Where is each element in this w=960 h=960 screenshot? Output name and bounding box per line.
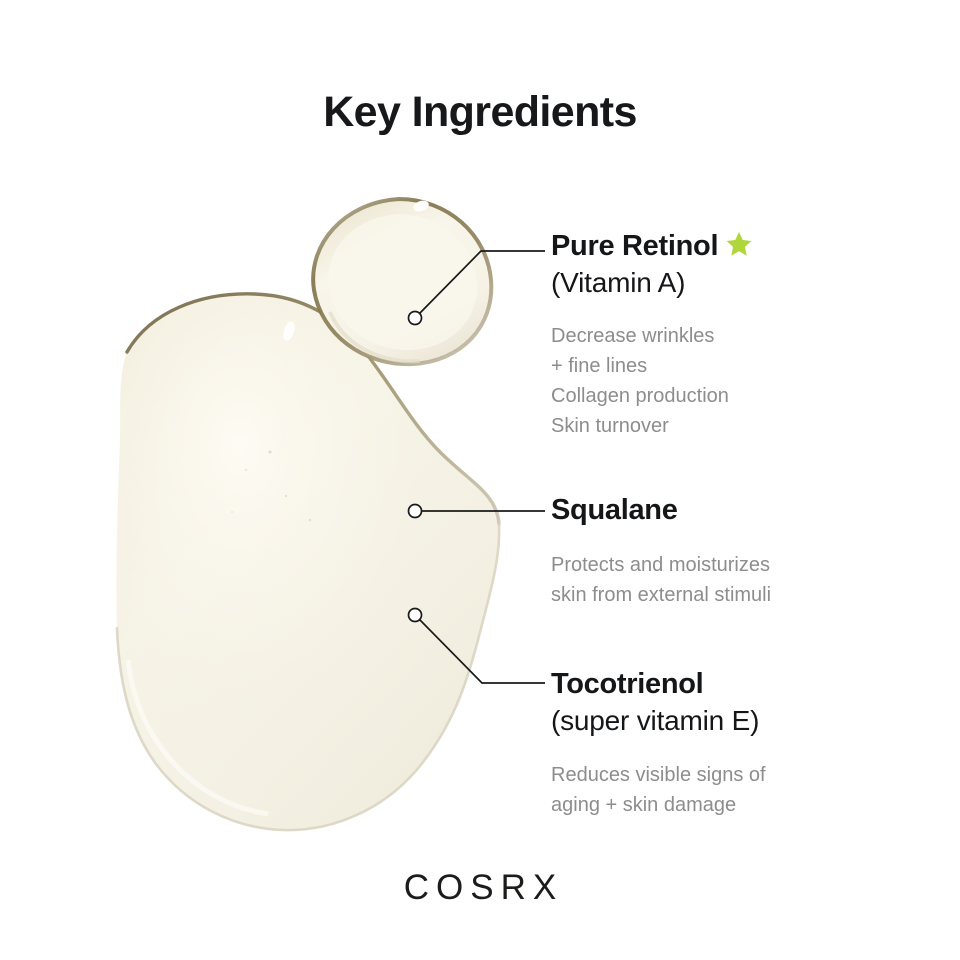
star-icon [725,230,753,258]
ingredient-name-tocotrienol: Tocotrienol [551,666,881,702]
ingredient-name-retinol: Pure Retinol [551,228,881,264]
description-line: skin from external stimuli [551,580,881,610]
leader-line-retinol [409,251,546,325]
ingredient-description-retinol: Decrease wrinkles + fine lines Collagen … [551,321,881,441]
description-line: + fine lines [551,351,881,381]
ingredient-name-retinol-label: Pure Retinol [551,230,718,262]
description-line: aging + skin damage [551,790,881,820]
ingredient-description-tocotrienol: Reduces visible signs of aging + skin da… [551,760,881,820]
description-line: Reduces visible signs of [551,760,881,790]
ingredient-subtitle-tocotrienol: (super vitamin E) [551,702,881,739]
ingredient-block-squalane: Squalane Protects and moisturizes skin f… [551,492,881,610]
infographic-canvas: Key Ingredients [0,0,960,960]
leader-line-squalane [409,505,546,518]
ingredient-subtitle-retinol: (Vitamin A) [551,264,881,301]
description-line: Protects and moisturizes [551,550,881,580]
description-line: Decrease wrinkles [551,321,881,351]
ingredient-name-squalane: Squalane [551,492,881,528]
leader-line-tocotrienol [409,609,546,684]
description-line: Skin turnover [551,411,881,441]
brand-logo-cosrx: COSRX [0,866,960,910]
ingredient-block-retinol: Pure Retinol (Vitamin A) Decrease wrinkl… [551,228,881,441]
ingredient-description-squalane: Protects and moisturizes skin from exter… [551,550,881,610]
ingredient-block-tocotrienol: Tocotrienol (super vitamin E) Reduces vi… [551,666,881,820]
description-line: Collagen production [551,381,881,411]
